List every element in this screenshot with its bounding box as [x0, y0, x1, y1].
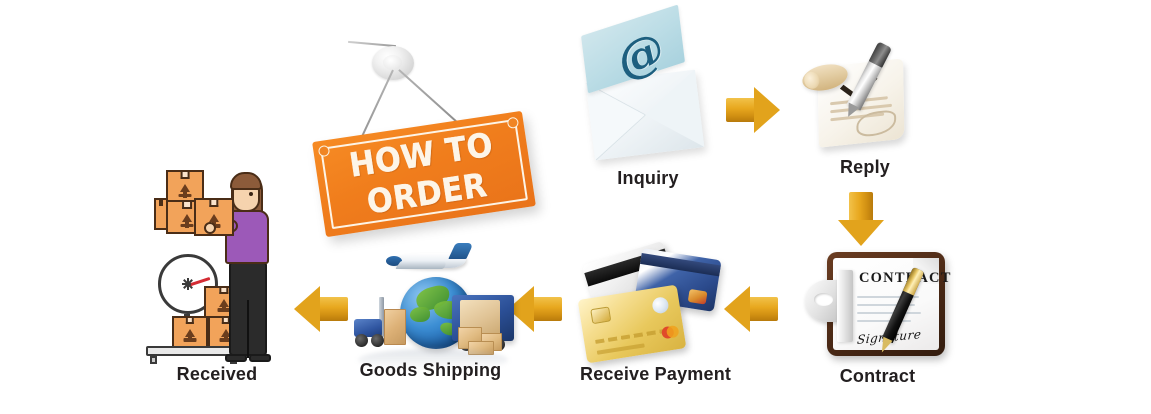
scale-tick: [170, 266, 189, 285]
card-name-placeholder: [597, 343, 645, 354]
fragile-arrow-base: [181, 224, 194, 228]
step-label-receive-payment: Receive Payment: [580, 364, 730, 385]
scale-box: [172, 316, 208, 348]
step-reply: Reply: [800, 45, 930, 195]
step-label-reply: Reply: [800, 157, 930, 178]
scroll-signature-mark: [856, 109, 896, 137]
sign-eyelet-right: [507, 117, 520, 130]
arrow-left-icon: [292, 286, 348, 332]
step-label-inquiry: Inquiry: [578, 168, 718, 189]
forklift-cargo: [384, 309, 406, 345]
fragile-arrow-base: [184, 338, 197, 342]
leg-divider: [247, 300, 250, 358]
arrow-shaft: [746, 297, 778, 321]
arrow-reply-to-contract: [838, 192, 884, 248]
arrow-left-icon: [722, 286, 778, 332]
clipboard-clamp: [837, 270, 853, 342]
card-hologram: [651, 296, 669, 314]
step-label-goods-shipping: Goods Shipping: [348, 360, 513, 381]
fragile-arrow-base: [179, 194, 192, 198]
hanging-wire-right: [398, 69, 457, 122]
card-brand-logo: [661, 325, 680, 340]
arrow-inquiry-to-reply: [726, 87, 782, 133]
sign-board: HOW TO ORDER: [312, 111, 536, 237]
step-goods-shipping: Goods Shipping: [348, 245, 513, 395]
forklift-icon: [354, 307, 398, 347]
forklift-wheel: [371, 334, 384, 347]
card-number-placeholder: [595, 329, 667, 344]
scale-tick: [163, 283, 188, 285]
step-contract: CONTRACT Signature Contract: [805, 248, 950, 398]
hook-knob-icon: [372, 46, 414, 80]
step-label-contract: Contract: [805, 366, 950, 387]
step-received: Received: [152, 168, 282, 393]
arrow-shaft: [530, 297, 562, 321]
person-eye: [249, 192, 253, 196]
arrow-shipping-to-received: [292, 286, 348, 332]
arrow-head: [838, 220, 884, 246]
person-hand: [204, 222, 216, 234]
contract-rule: [857, 312, 921, 314]
arrow-down-icon: [838, 192, 884, 248]
step-receive-payment: Receive Payment: [580, 248, 730, 398]
scale-tick: [187, 284, 189, 309]
card-chip: [590, 306, 611, 324]
arrow-left-icon: [506, 286, 562, 332]
clipboard-tag-hole: [814, 293, 833, 306]
airplane-wing: [395, 261, 449, 269]
airplane-tail: [448, 243, 473, 259]
arrow-head: [294, 286, 320, 332]
contract-rule: [857, 320, 911, 322]
person-hair-top: [230, 172, 262, 190]
arrow-contract-to-payment: [722, 286, 778, 332]
how-to-order-sign: HOW TO ORDER: [310, 38, 550, 238]
step-inquiry: @ Inquiry: [578, 50, 718, 195]
envelope-fold-right: [640, 70, 704, 154]
step-label-received: Received: [152, 364, 282, 385]
person-shoe: [225, 354, 247, 362]
arrow-payment-to-shipping: [506, 286, 562, 332]
scale-foot: [150, 356, 157, 364]
sign-title: HOW TO ORDER: [322, 121, 526, 227]
card-chip: [688, 289, 708, 305]
globe-landmass: [410, 307, 430, 322]
person-shoe: [249, 354, 271, 362]
magnetic-stripe: [640, 253, 721, 276]
arrow-shaft: [316, 297, 348, 321]
person-legs: [229, 262, 267, 356]
arrow-head: [754, 87, 780, 133]
arrow-right-icon: [726, 87, 782, 133]
scale-platform: [146, 346, 238, 356]
forklift-wheel: [355, 334, 368, 347]
scale-tick: [170, 283, 189, 302]
how-to-order-infographic: HOW TO ORDER @ Inquiry: [0, 0, 1151, 414]
